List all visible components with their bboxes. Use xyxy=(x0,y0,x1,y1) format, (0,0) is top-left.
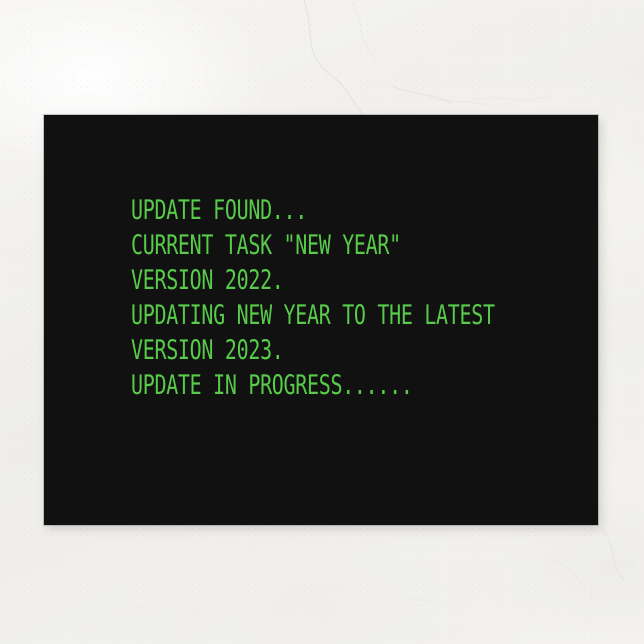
message-line-4: UPDATING NEW YEAR TO THE LATEST xyxy=(131,298,457,333)
message-line-1: UPDATE FOUND... xyxy=(131,193,457,228)
postcard: UPDATE FOUND... CURRENT TASK "NEW YEAR" … xyxy=(44,115,598,525)
message-line-6: UPDATE IN PROGRESS...... xyxy=(131,368,457,403)
message-line-2: CURRENT TASK "NEW YEAR" xyxy=(131,228,457,263)
marble-background: UPDATE FOUND... CURRENT TASK "NEW YEAR" … xyxy=(0,0,644,644)
terminal-message: UPDATE FOUND... CURRENT TASK "NEW YEAR" … xyxy=(131,193,571,403)
message-line-3: VERSION 2022. xyxy=(131,263,457,298)
message-line-5: VERSION 2023. xyxy=(131,333,457,368)
